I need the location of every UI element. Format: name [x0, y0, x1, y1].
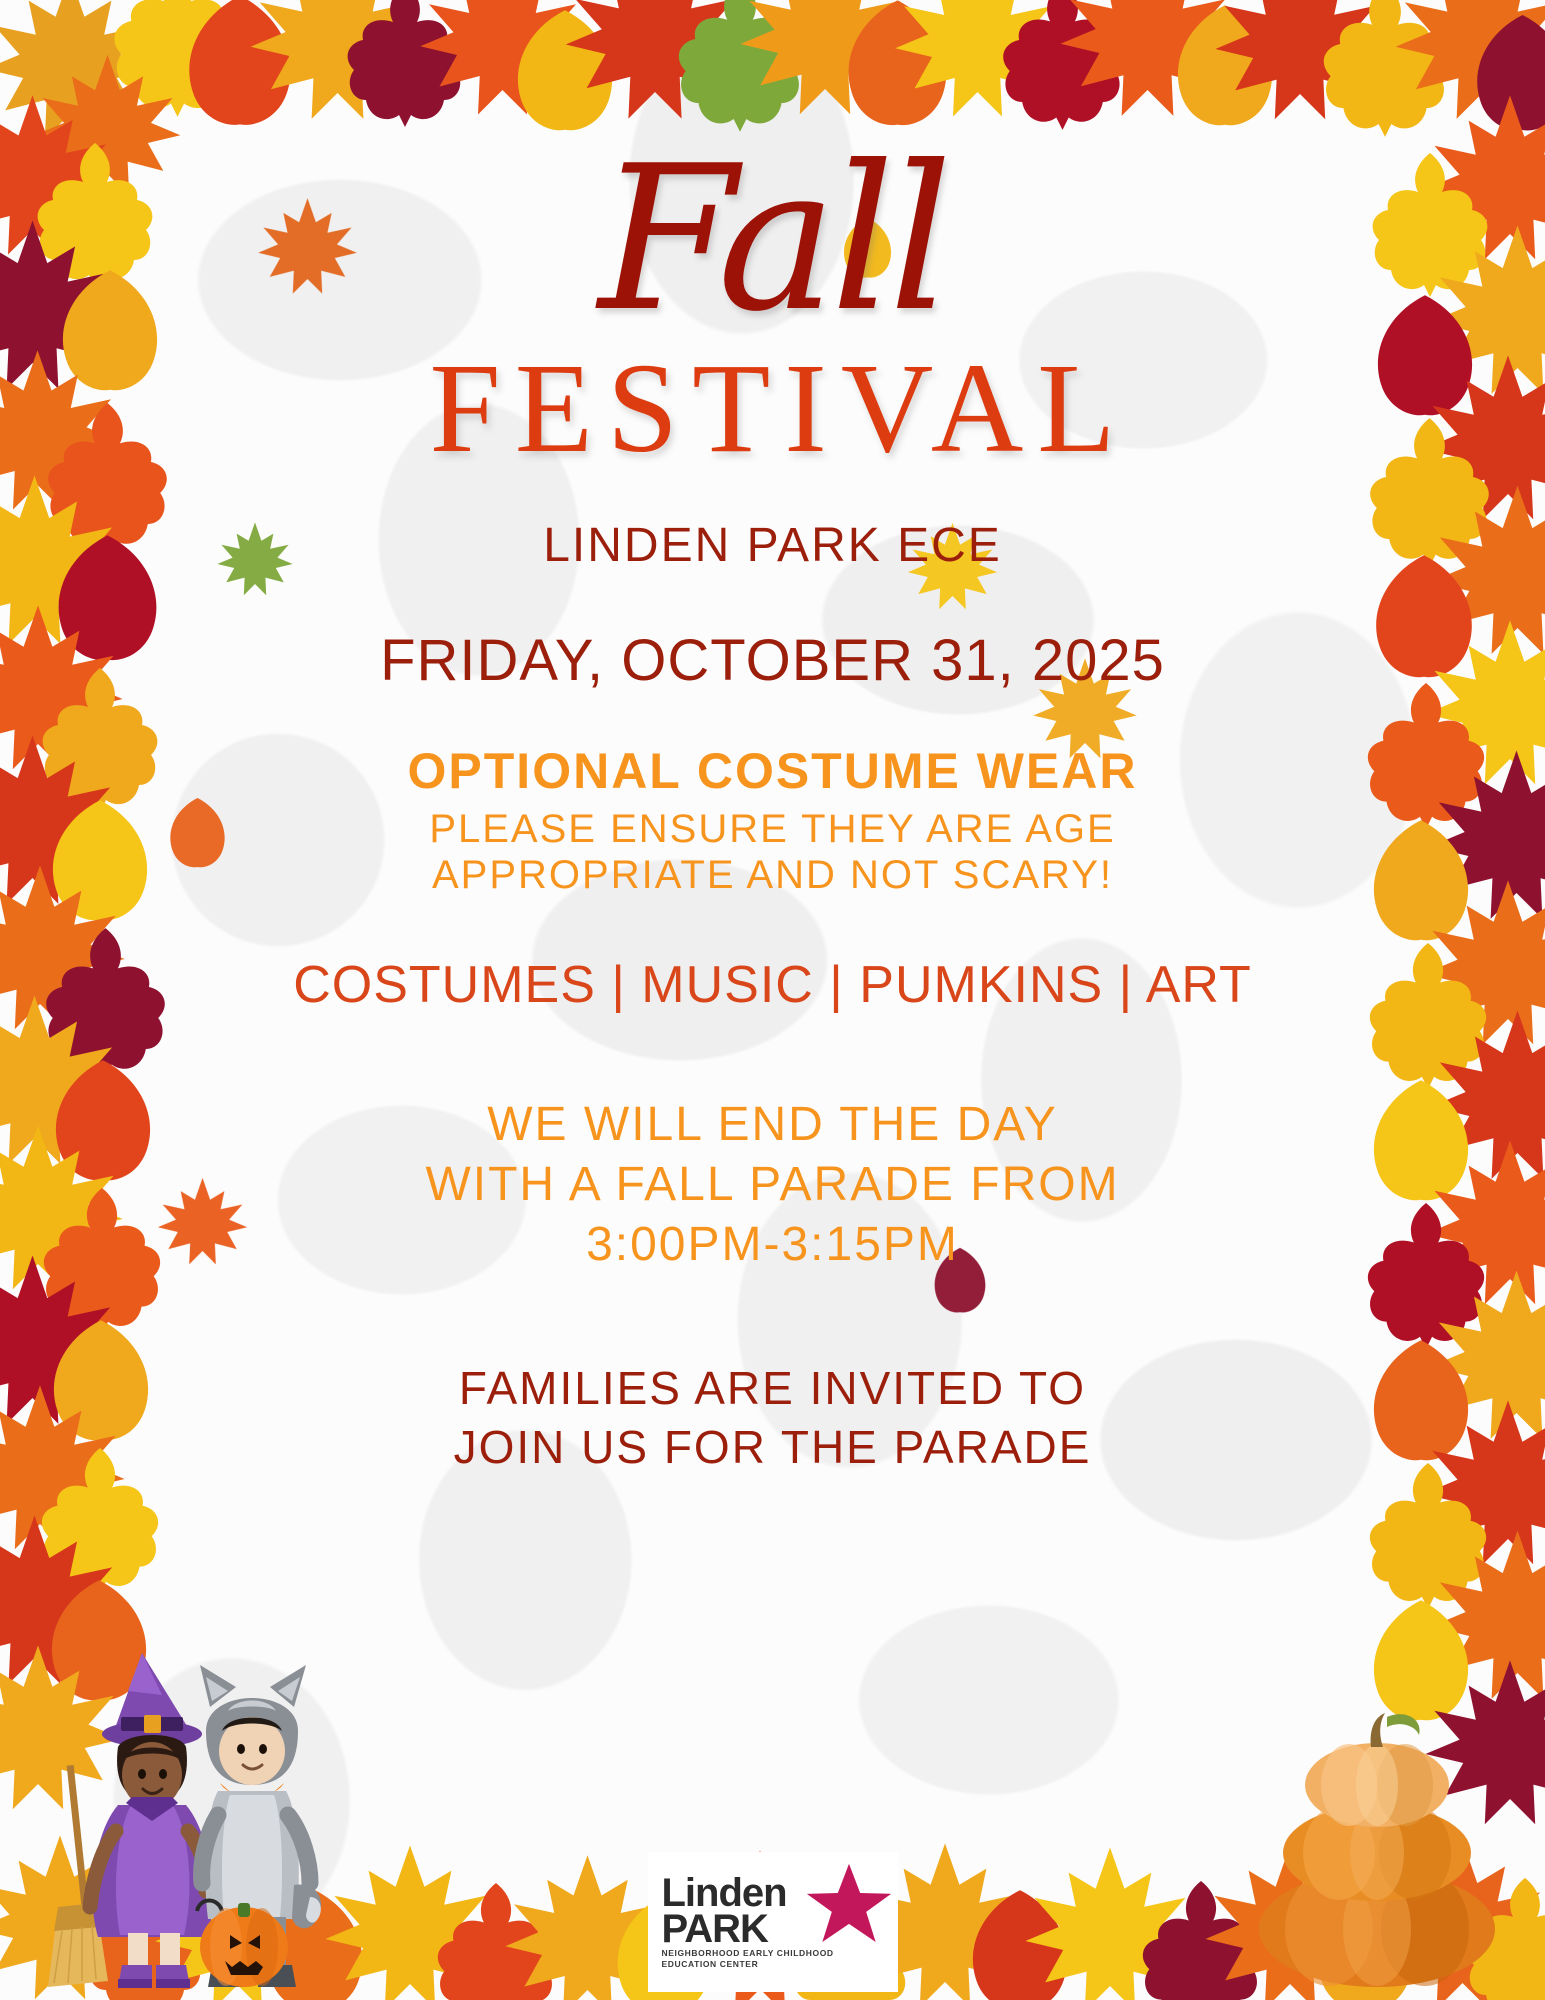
stacked-pumpkins-illustration: [1237, 1701, 1517, 1996]
logo-line-park: PARK: [662, 1911, 834, 1948]
parade-time: 3:00PM-3:15PM: [273, 1215, 1273, 1275]
school-name: LINDEN PARK ECE: [273, 518, 1273, 573]
costumed-children-illustration: [22, 1635, 352, 2000]
logo-line-linden: Linden: [662, 1875, 834, 1912]
logo-tagline-1: NEIGHBORHOOD EARLY CHILDHOOD: [662, 1948, 834, 1959]
parade-info: WE WILL END THE DAY WITH A FALL PARADE F…: [273, 1095, 1273, 1275]
costume-note: PLEASE ENSURE THEY ARE AGE APPROPRIATE A…: [273, 806, 1273, 899]
fall-festival-flyer: Fall FESTIVAL LINDEN PARK ECE FRIDAY, OC…: [0, 0, 1545, 2000]
costume-note-line-1: PLEASE ENSURE THEY ARE AGE: [273, 806, 1273, 852]
parade-line-2: WITH A FALL PARADE FROM: [273, 1155, 1273, 1215]
logo-tagline-2: EDUCATION CENTER: [662, 1959, 834, 1970]
families-line-2: JOIN US FOR THE PARADE: [273, 1418, 1273, 1477]
families-line-1: FAMILIES ARE INVITED TO: [273, 1359, 1273, 1418]
linden-park-logo: Linden PARK NEIGHBORHOOD EARLY CHILDHOOD…: [648, 1852, 898, 1992]
activities-list: COSTUMES | MUSIC | PUMKINS | ART: [273, 955, 1273, 1015]
costume-heading: OPTIONAL COSTUME WEAR: [273, 742, 1273, 800]
event-date: FRIDAY, OCTOBER 31, 2025: [273, 627, 1273, 694]
title-festival: FESTIVAL: [273, 344, 1273, 472]
costume-note-line-2: APPROPRIATE AND NOT SCARY!: [273, 852, 1273, 898]
title-script-fall: Fall: [273, 140, 1273, 340]
parade-line-1: WE WILL END THE DAY: [273, 1095, 1273, 1155]
families-invitation: FAMILIES ARE INVITED TO JOIN US FOR THE …: [273, 1359, 1273, 1477]
flyer-content: Fall FESTIVAL LINDEN PARK ECE FRIDAY, OC…: [273, 0, 1273, 1477]
witch-girl-figure: [90, 1653, 212, 1988]
